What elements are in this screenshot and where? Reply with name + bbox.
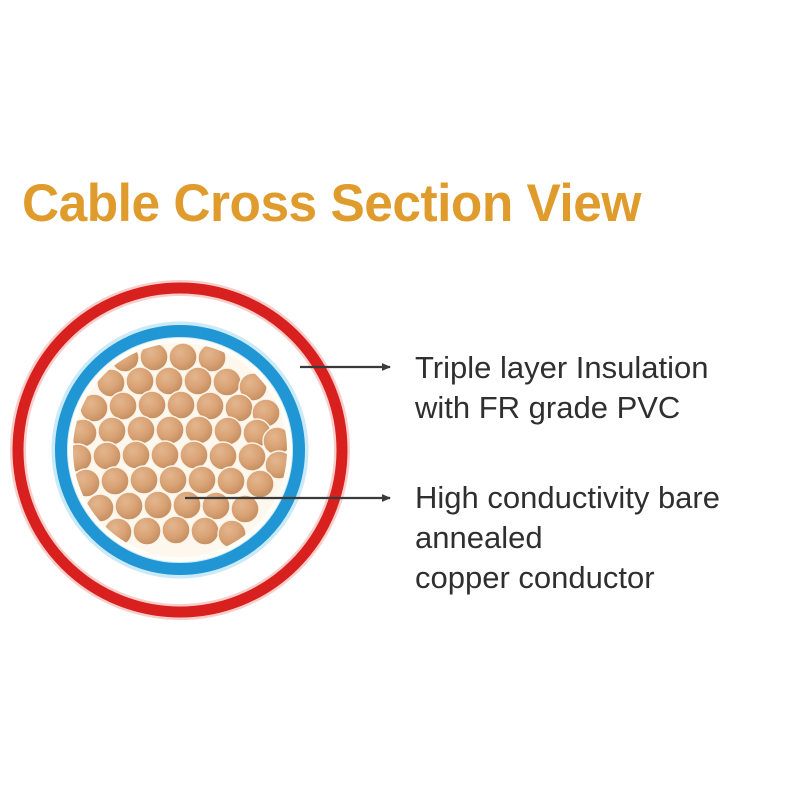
diagram-canvas: Cable Cross Section View [0,0,800,800]
label-line: Triple layer Insulation [415,348,709,388]
label-line: annealed [415,518,720,558]
label-line: with FR grade PVC [415,388,709,428]
label-copper-conductor: High conductivity bare annealed copper c… [415,478,720,598]
cable-cross-section-illustration [8,275,358,625]
page-title: Cable Cross Section View [22,172,701,236]
label-line: copper conductor [415,558,720,598]
label-triple-layer-insulation: Triple layer Insulation with FR grade PV… [415,348,709,428]
label-line: High conductivity bare [415,478,720,518]
